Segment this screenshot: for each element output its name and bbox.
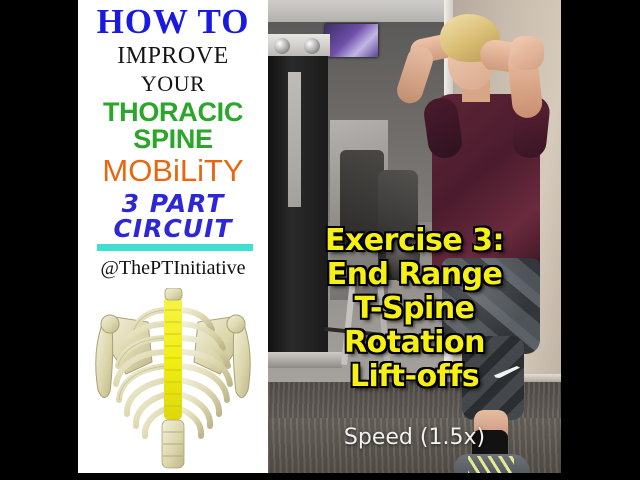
title-line-3-part: 3 PART <box>78 191 268 216</box>
pulley-wheel-right <box>304 38 320 54</box>
title-line-how-to: HOW TO <box>78 4 268 39</box>
teal-divider <box>97 244 253 251</box>
title-line-spine: SPINE <box>78 126 268 153</box>
thoracic-spine-ribcage-illustration <box>86 288 260 472</box>
letterbox-bar-bottom <box>0 473 640 480</box>
speed-label: Speed (1.5x) <box>268 425 561 450</box>
title-line-thoracic: THORACIC <box>78 99 268 126</box>
letterbox-bar-right <box>561 0 640 480</box>
weight-plate-column <box>288 72 301 207</box>
exercise-video-photo <box>268 0 561 480</box>
wall-tv-screen <box>325 24 378 57</box>
social-handle: @ThePTInitiative <box>78 258 268 278</box>
pulley-wheel-left <box>274 38 290 54</box>
title-line-your: YOUR <box>78 73 268 95</box>
title-card-panel: HOW TO IMPROVE YOUR THORACIC SPINE MOBiL… <box>78 0 268 473</box>
exercising-person <box>418 6 561 480</box>
knee-sleeve <box>462 336 524 420</box>
video-frame: HOW TO IMPROVE YOUR THORACIC SPINE MOBiL… <box>0 0 640 480</box>
title-line-improve: IMPROVE <box>78 44 268 68</box>
far-machine-seat <box>386 230 420 282</box>
letterbox-bar-left <box>0 0 78 480</box>
machine-base <box>268 352 342 368</box>
right-hand <box>510 36 544 70</box>
title-line-circuit: CIRCUIT <box>78 216 268 241</box>
title-line-mobility: MOBiLiTY <box>78 155 268 186</box>
